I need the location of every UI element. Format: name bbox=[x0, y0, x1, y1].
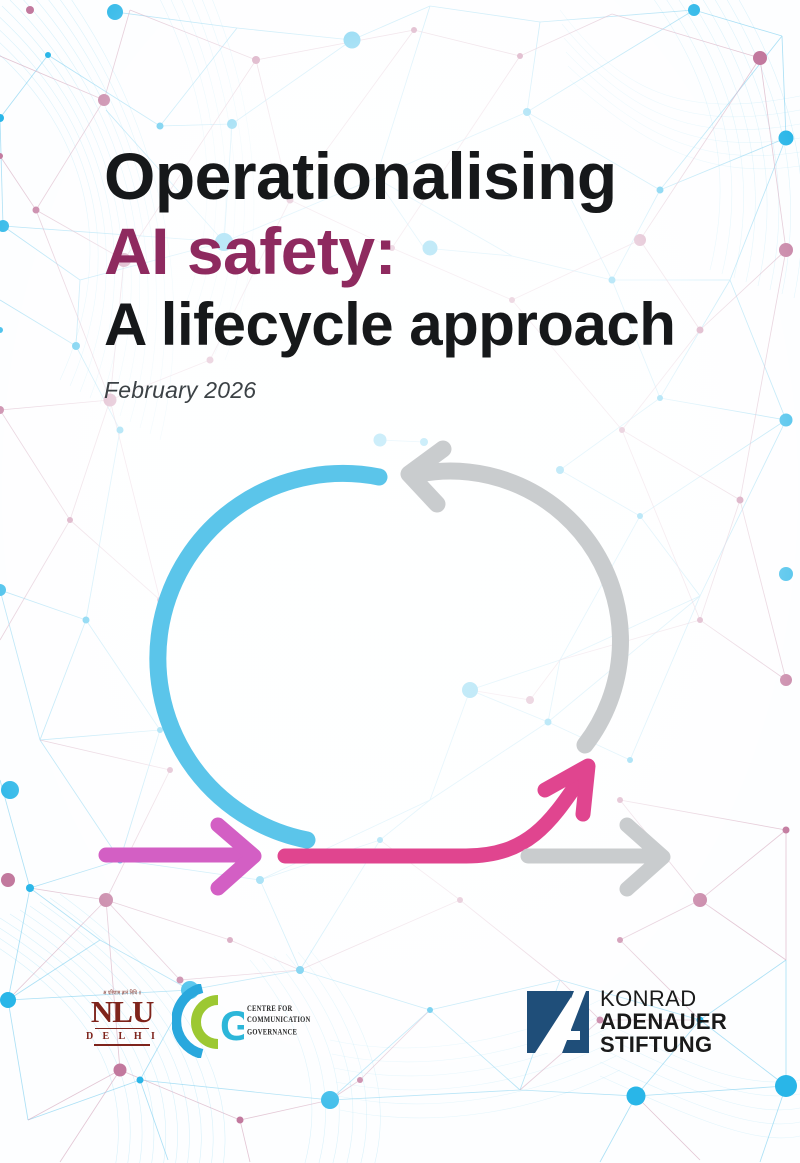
gray-arc-segment bbox=[419, 471, 620, 745]
page-title-line-2-accent: AI safety: bbox=[104, 221, 744, 282]
publication-date: February 2026 bbox=[104, 377, 744, 404]
kas-line-3: STIFTUNG bbox=[600, 1034, 727, 1057]
blue-arc-segment bbox=[158, 473, 379, 840]
ccg-line-3: GOVERNANCE bbox=[247, 1027, 311, 1039]
page-title-line-3: A lifecycle approach bbox=[104, 297, 744, 353]
nlu-delhi-logo: अ परिणाम ज्ञानं निधि ॥ NLU D E L H I bbox=[86, 990, 158, 1046]
nlu-motto-text: अ परिणाम ज्ञानं निधि ॥ bbox=[103, 989, 141, 997]
kas-line-2: ADENAUER bbox=[600, 1011, 727, 1034]
ccg-line-1: CENTRE FOR bbox=[247, 1003, 311, 1015]
nlu-mark-letters: NLU bbox=[91, 998, 153, 1026]
kas-square-a-mark bbox=[527, 991, 589, 1053]
document-cover: Operationalising AI safety: A lifecycle … bbox=[0, 0, 800, 1163]
page-title-line-1: Operationalising bbox=[104, 146, 744, 207]
ccg-arcs-mark: G bbox=[172, 984, 244, 1058]
konrad-adenauer-stiftung-logo: KONRAD ADENAUER STIFTUNG bbox=[527, 988, 727, 1057]
nlu-divider-rule bbox=[95, 1028, 149, 1030]
ccg-letter-g: G bbox=[220, 1002, 244, 1049]
nlu-delhi-subtitle: D E L H I bbox=[86, 1031, 158, 1042]
nlu-underline-rule bbox=[94, 1044, 150, 1045]
kas-line-1: KONRAD bbox=[600, 988, 727, 1011]
ccg-line-2: COMMUNICATION bbox=[247, 1015, 311, 1027]
centre-for-communication-governance-logo: G CENTRE FOR COMMUNICATION GOVERNANCE bbox=[172, 984, 311, 1058]
title-block: Operationalising AI safety: A lifecycle … bbox=[104, 146, 744, 404]
logo-row: अ परिणाम ज्ञानं निधि ॥ NLU D E L H I G C… bbox=[0, 980, 800, 1080]
